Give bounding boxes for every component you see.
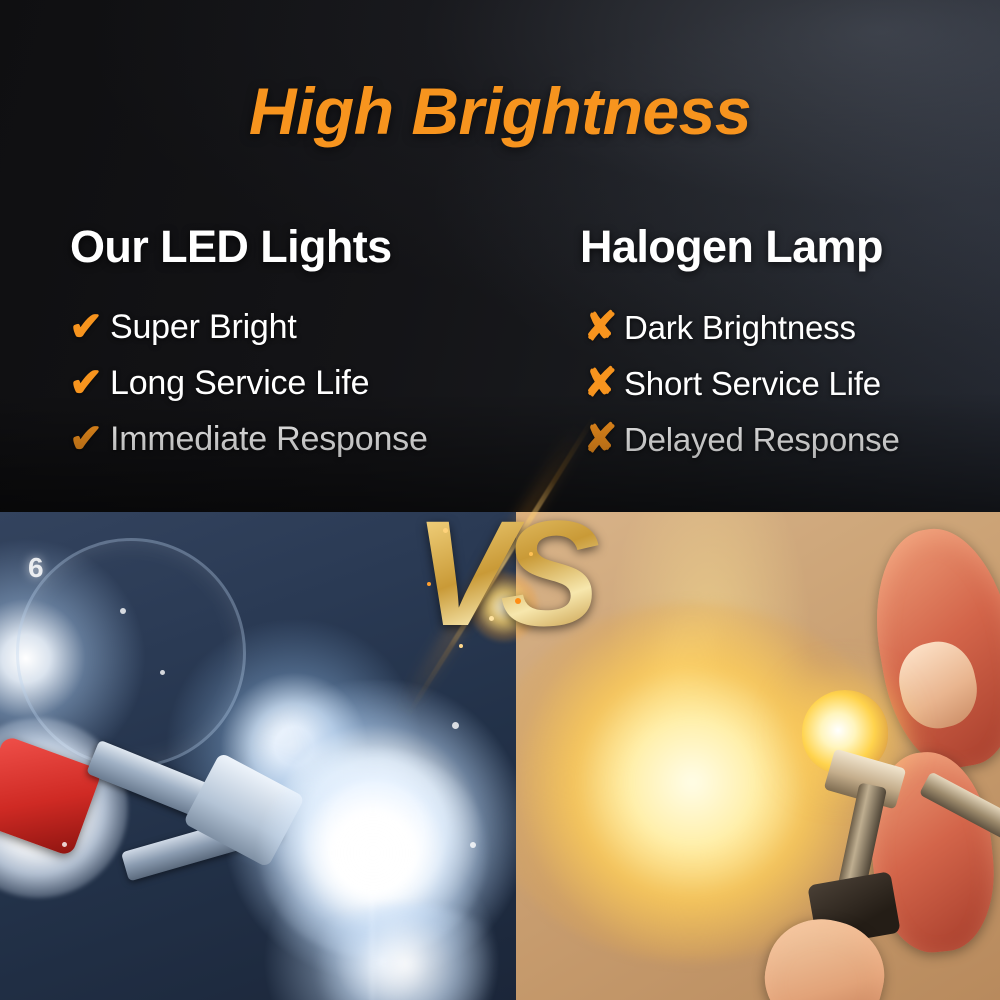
- halogen-bulb-photo: Dim warm yellow halogen bulb held in fin…: [516, 512, 1000, 1000]
- feature-label: Immediate Response: [110, 422, 428, 456]
- column-heading-led: Our LED Lights: [62, 224, 532, 269]
- cross-icon: ✘: [576, 363, 624, 403]
- feature-label: Dark Brightness: [624, 311, 856, 344]
- page-title: High Brightness: [0, 78, 1000, 144]
- column-heading-halogen: Halogen Lamp: [576, 224, 986, 269]
- cross-icon: ✘: [576, 307, 624, 347]
- led-bulb-photo: 6 Bright white LED bulb lit in a test cl…: [0, 512, 516, 1000]
- check-icon: ✔: [62, 419, 110, 459]
- check-icon: ✔: [62, 307, 110, 347]
- feature-list-halogen: ✘ Dark Brightness ✘ Short Service Life ✘…: [576, 299, 986, 467]
- light-speck: [120, 608, 126, 614]
- list-item: ✘ Short Service Life: [576, 355, 986, 411]
- light-speck: [62, 842, 67, 847]
- header-panel: High Brightness Our LED Lights ✔ Super B…: [0, 0, 1000, 512]
- list-item: ✘ Dark Brightness: [576, 299, 986, 355]
- photo-marking-6: 6: [28, 552, 44, 584]
- feature-list-led: ✔ Super Bright ✔ Long Service Life ✔ Imm…: [62, 299, 532, 467]
- comparison-column-halogen-lamp: Halogen Lamp ✘ Dark Brightness ✘ Short S…: [576, 224, 986, 467]
- product-comparison-banner: High Brightness Our LED Lights ✔ Super B…: [0, 0, 1000, 1000]
- feature-label: Long Service Life: [110, 366, 369, 400]
- feature-label: Super Bright: [110, 310, 297, 344]
- check-icon: ✔: [62, 363, 110, 403]
- led-photo-caption: Bright white LED bulb lit in a test clip: [0, 512, 1, 513]
- feature-label: Short Service Life: [624, 367, 881, 400]
- cross-icon: ✘: [576, 419, 624, 459]
- comparison-column-our-led-lights: Our LED Lights ✔ Super Bright ✔ Long Ser…: [62, 224, 532, 467]
- photo-strip: 6 Bright white LED bulb lit in a test cl…: [0, 512, 1000, 1000]
- halogen-photo-caption: Dim warm yellow halogen bulb held in fin…: [516, 512, 517, 513]
- light-speck: [452, 722, 459, 729]
- light-speck: [160, 670, 165, 675]
- list-item: ✔ Long Service Life: [62, 355, 532, 411]
- list-item: ✔ Super Bright: [62, 299, 532, 355]
- list-item: ✔ Immediate Response: [62, 411, 532, 467]
- light-speck: [470, 842, 476, 848]
- list-item: ✘ Delayed Response: [576, 411, 986, 467]
- feature-label: Delayed Response: [624, 423, 900, 456]
